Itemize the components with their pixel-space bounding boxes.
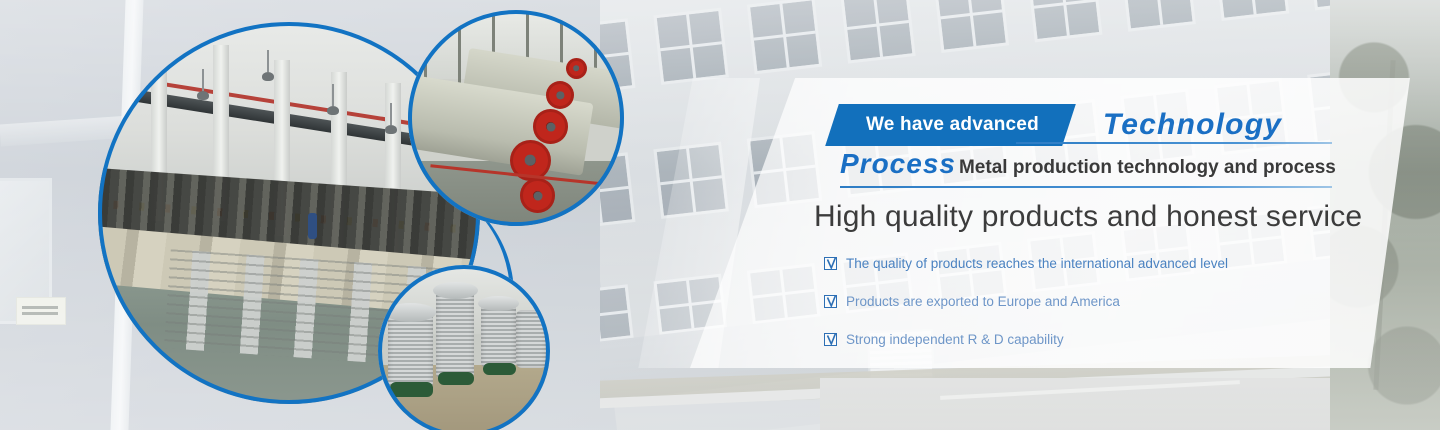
process-description: Metal production technology and process — [959, 157, 1336, 179]
divider-rule-bottom — [840, 186, 1332, 188]
promo-banner: We have advanced Technology Process Meta… — [0, 0, 1440, 430]
list-item: The quality of products reaches the inte… — [824, 250, 1228, 276]
banner-content: We have advanced Technology Process Meta… — [0, 0, 1440, 430]
advanced-tag-label: We have advanced — [866, 114, 1039, 136]
list-item: Strong independent R & D capability — [824, 326, 1228, 352]
tagline-row: We have advanced Technology — [832, 104, 1282, 146]
feature-list: The quality of products reaches the inte… — [824, 250, 1228, 364]
checkbox-check-icon — [824, 257, 837, 270]
technology-heading: Technology — [1103, 104, 1282, 146]
process-heading: Process — [840, 148, 956, 180]
page-headline: High quality products and honest service — [814, 200, 1362, 234]
divider-rule-top — [1016, 142, 1332, 144]
list-item: Products are exported to Europe and Amer… — [824, 288, 1228, 314]
advanced-tag: We have advanced — [825, 104, 1076, 146]
list-item-label: Products are exported to Europe and Amer… — [846, 294, 1120, 309]
checkbox-check-icon — [824, 333, 837, 346]
checkbox-check-icon — [824, 295, 837, 308]
list-item-label: Strong independent R & D capability — [846, 332, 1064, 347]
process-row: Process Metal production technology and … — [840, 148, 1336, 184]
list-item-label: The quality of products reaches the inte… — [846, 256, 1228, 271]
